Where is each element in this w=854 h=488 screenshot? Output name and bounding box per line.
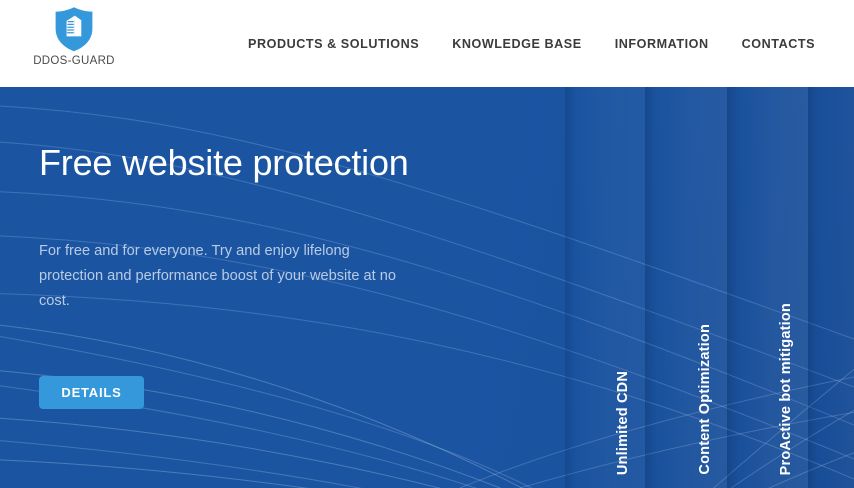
hero-subtitle: For free and for everyone. Try and enjoy… bbox=[39, 239, 399, 314]
feature-panel-content-optimization[interactable] bbox=[645, 87, 727, 488]
feature-panel-proactive-bot-mitigation[interactable] bbox=[727, 87, 808, 488]
nav-item-knowledge-base[interactable]: KNOWLEDGE BASE bbox=[452, 37, 581, 51]
feature-panel-edge bbox=[808, 87, 854, 488]
nav-item-products-solutions[interactable]: PRODUCTS & SOLUTIONS bbox=[248, 37, 419, 51]
site-header: DDOS-GUARD PRODUCTS & SOLUTIONS KNOWLEDG… bbox=[0, 0, 854, 87]
feature-label-unlimited-cdn[interactable]: Unlimited CDN bbox=[615, 371, 631, 475]
details-button[interactable]: DETAILS bbox=[39, 376, 144, 409]
shield-building-logo-icon bbox=[53, 6, 95, 52]
page-root: DDOS-GUARD PRODUCTS & SOLUTIONS KNOWLEDG… bbox=[0, 0, 854, 488]
feature-label-content-optimization[interactable]: Content Optimization bbox=[697, 324, 713, 475]
hero-banner: Unlimited CDN Content Optimization ProAc… bbox=[0, 87, 854, 488]
hero-title: Free website protection bbox=[39, 143, 409, 183]
feature-label-proactive-bot-mitigation[interactable]: ProActive bot mitigation bbox=[778, 303, 794, 475]
nav-item-information[interactable]: INFORMATION bbox=[615, 37, 709, 51]
main-navigation: PRODUCTS & SOLUTIONS KNOWLEDGE BASE INFO… bbox=[248, 0, 815, 87]
feature-panel-unlimited-cdn[interactable] bbox=[565, 87, 645, 488]
nav-item-contacts[interactable]: CONTACTS bbox=[742, 37, 815, 51]
brand-logo-link[interactable]: DDOS-GUARD bbox=[28, 6, 120, 67]
brand-name-label: DDOS-GUARD bbox=[33, 55, 115, 67]
